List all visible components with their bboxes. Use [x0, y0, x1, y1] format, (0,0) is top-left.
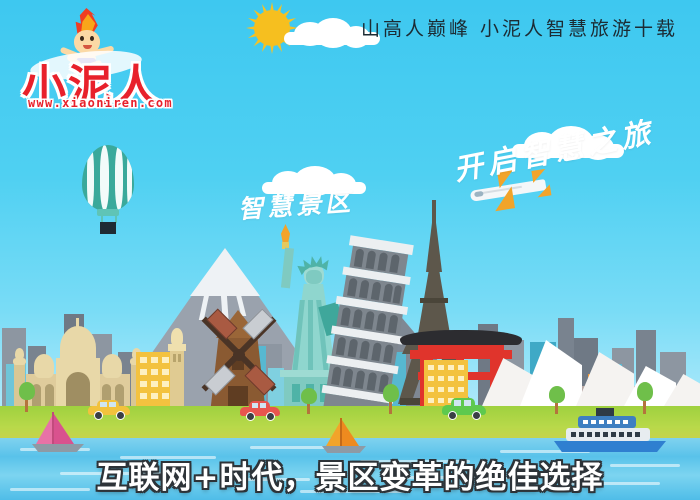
sailboat-icon	[322, 418, 370, 454]
minaret-tower	[166, 328, 188, 414]
car-icon	[240, 401, 280, 419]
tree-icon	[18, 382, 36, 412]
brand-logo[interactable]: 小泥人 www.xiaoniren.com	[14, 8, 164, 108]
tree-icon	[382, 384, 400, 414]
header-slogan: 山高人巅峰 小泥人智慧旅游十载	[361, 14, 678, 41]
sailboat-icon	[32, 412, 88, 452]
bottom-caption: 互联网+时代，景区变革的绝佳选择	[0, 452, 700, 497]
car-icon	[88, 400, 130, 418]
logo-website-text: www.xiaoniren.com	[28, 96, 173, 110]
hot-air-balloon-icon	[82, 145, 138, 235]
sydney-opera-house	[492, 330, 700, 414]
ferry-icon	[554, 408, 666, 452]
tree-icon	[300, 388, 318, 414]
travel-banner: 山高人巅峰 小泥人智慧旅游十载 开启智慧之旅 智慧景区 互联网+时代，景区变革的…	[0, 0, 700, 500]
car-icon	[442, 398, 486, 418]
